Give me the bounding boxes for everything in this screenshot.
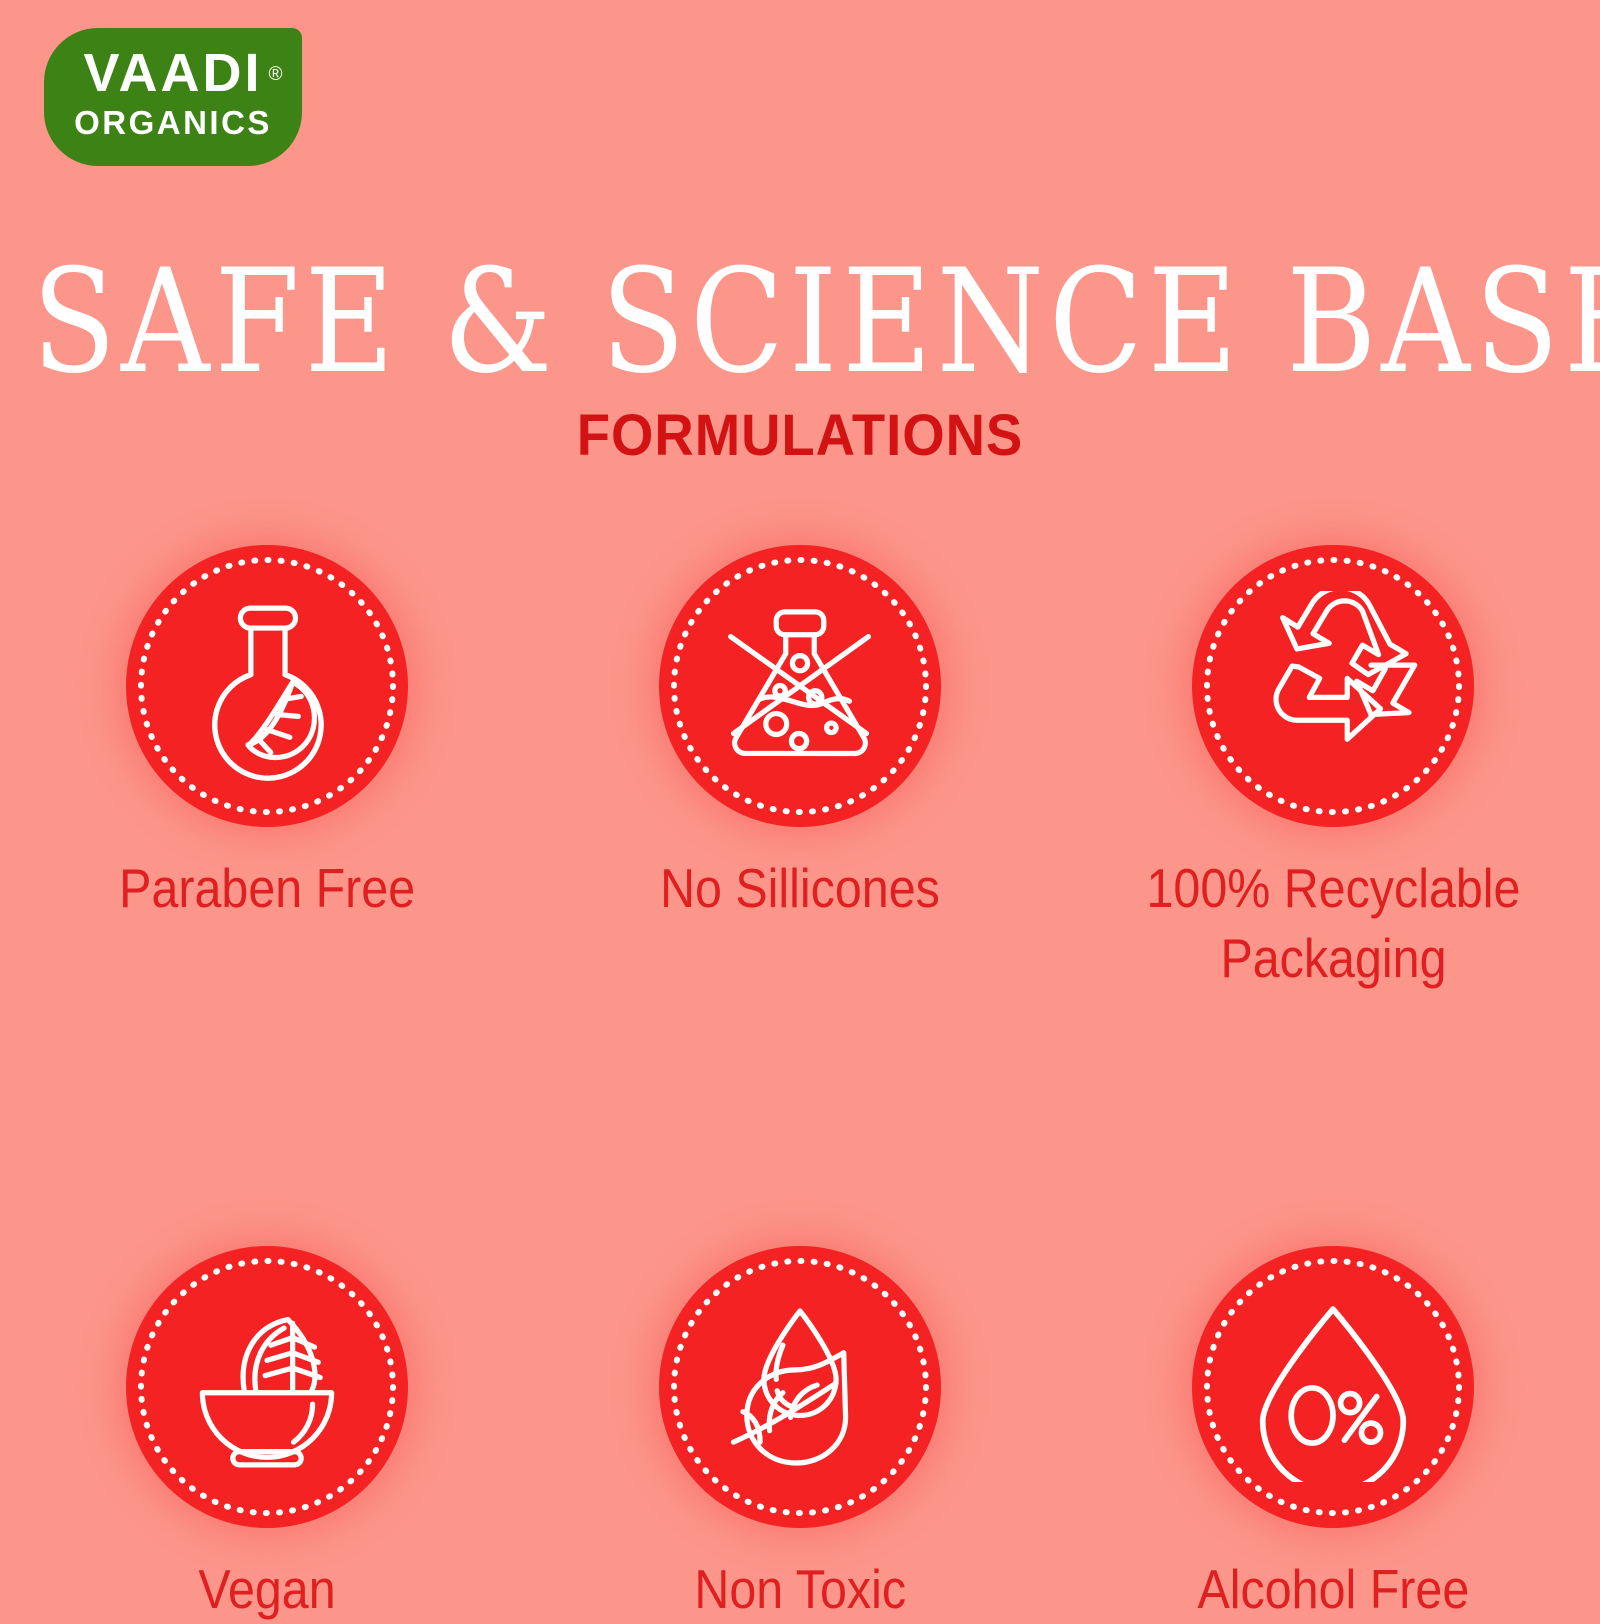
brand-name-primary: VAADI® [83, 42, 262, 104]
flask-leaf-icon [172, 591, 362, 781]
badge-label: Paraben Free [119, 853, 415, 923]
badge-circle [659, 1246, 941, 1528]
feature-badge-no-sillicones: No Sillicones [533, 545, 1066, 993]
droplet-zero-percent-icon [1238, 1292, 1428, 1482]
bowl-leaf-icon [172, 1292, 362, 1482]
badge-label: 100% Recyclable Packaging [1146, 853, 1520, 993]
badge-circle [659, 545, 941, 827]
page-subtitle: FORMULATIONS [48, 404, 1552, 468]
feature-badge-alcohol-free: Alcohol Free [1067, 1246, 1600, 1624]
brand-name-text: VAADI [83, 43, 262, 103]
badge-label: Alcohol Free [1197, 1554, 1469, 1624]
recycle-icon [1238, 591, 1428, 781]
badge-circle [1192, 545, 1474, 827]
flask-crossed-out-icon [705, 591, 895, 781]
feature-badge-recyclable-packaging: 100% Recyclable Packaging [1067, 545, 1600, 993]
feature-badge-row: Paraben Free [0, 545, 1600, 993]
registered-trademark-icon: ® [269, 44, 283, 106]
feature-badge-non-toxic: Non Toxic [533, 1246, 1066, 1624]
badge-label: No Sillicones [660, 853, 940, 923]
brand-logo: VAADI® ORGANICS [44, 28, 302, 166]
badge-circle [126, 545, 408, 827]
feature-badge-vegan: Vegan [0, 1246, 533, 1624]
brand-name-secondary: ORGANICS [44, 102, 302, 144]
feature-badge-row: Vegan [0, 1246, 1600, 1624]
feature-badge-paraben-free: Paraben Free [0, 545, 533, 993]
badge-circle [126, 1246, 408, 1528]
droplet-leaf-icon [705, 1292, 895, 1482]
page-title: SAFE & SCIENCE BASED [32, 250, 1568, 396]
feature-badge-grid: Paraben Free [0, 545, 1600, 1624]
badge-label: Non Toxic [694, 1554, 906, 1624]
badge-label: Vegan [198, 1554, 335, 1624]
badge-circle [1192, 1246, 1474, 1528]
